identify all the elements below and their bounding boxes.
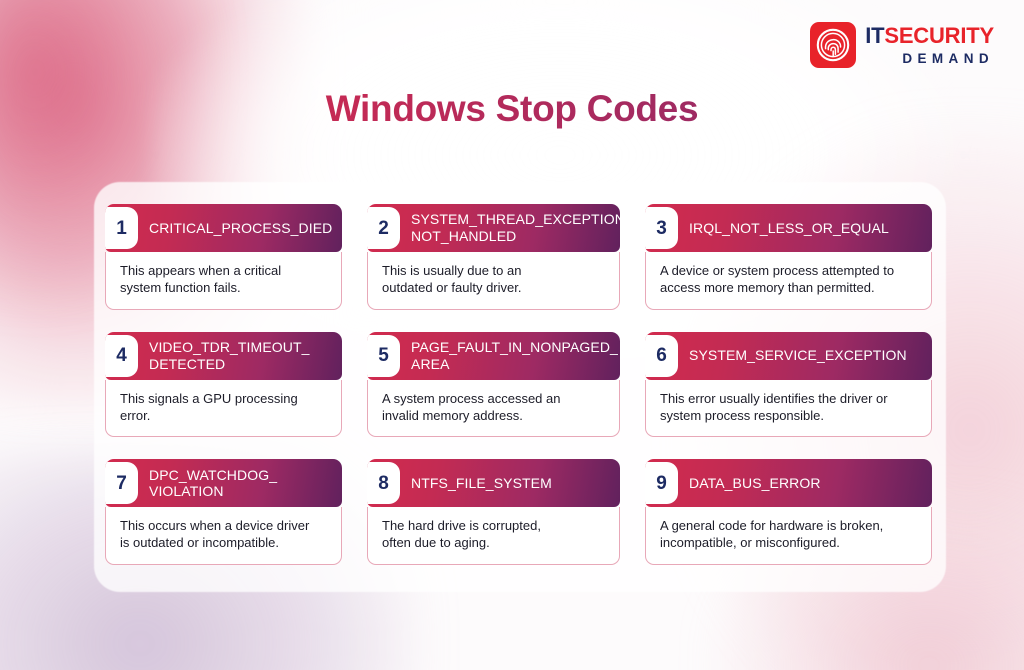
page-title: Windows Stop Codes [0,88,1024,130]
card-code-label: SYSTEM_SERVICE_EXCEPTION [678,332,932,380]
card-number: 3 [656,219,667,238]
card-header: 2 SYSTEM_THREAD_EXCEPTION_ NOT_HANDLED [367,204,620,252]
stop-code-card: 2 SYSTEM_THREAD_EXCEPTION_ NOT_HANDLED T… [367,204,620,310]
brand-logo-security: SECURITY [884,23,994,48]
card-header: 4 VIDEO_TDR_TIMEOUT_ DETECTED [105,332,342,380]
card-description: This occurs when a device driver is outd… [105,507,342,565]
card-number: 1 [116,219,127,238]
brand-logo-primary: ITSECURITY [865,25,994,47]
brand-logo: ITSECURITY DEMAND [810,22,994,68]
card-number: 4 [116,346,127,365]
brand-logo-text: ITSECURITY DEMAND [865,25,994,66]
card-description: This is usually due to an outdated or fa… [367,252,620,310]
card-code-label: DPC_WATCHDOG_ VIOLATION [138,459,342,507]
card-code-label: SYSTEM_THREAD_EXCEPTION_ NOT_HANDLED [400,204,620,252]
card-description: This error usually identifies the driver… [645,380,932,438]
card-number-badge: 9 [645,462,678,504]
card-header: 1 CRITICAL_PROCESS_DIED [105,204,342,252]
card-header: 8 NTFS_FILE_SYSTEM [367,459,620,507]
card-number: 7 [116,474,127,493]
card-code-label: NTFS_FILE_SYSTEM [400,459,620,507]
stop-code-card: 3 IRQL_NOT_LESS_OR_EQUAL A device or sys… [645,204,932,310]
card-number-badge: 8 [367,462,400,504]
card-number-badge: 1 [105,207,138,249]
stop-code-card: 7 DPC_WATCHDOG_ VIOLATION This occurs wh… [105,459,342,565]
card-number-badge: 3 [645,207,678,249]
card-code-label: VIDEO_TDR_TIMEOUT_ DETECTED [138,332,342,380]
card-number: 2 [378,219,389,238]
stop-code-card: 9 DATA_BUS_ERROR A general code for hard… [645,459,932,565]
card-description: A system process accessed an invalid mem… [367,380,620,438]
card-number-badge: 5 [367,335,400,377]
card-description: This appears when a critical system func… [105,252,342,310]
brand-logo-demand: DEMAND [865,52,994,66]
card-number-badge: 4 [105,335,138,377]
card-description: A general code for hardware is broken, i… [645,507,932,565]
card-number-badge: 2 [367,207,400,249]
card-code-label: PAGE_FAULT_IN_NONPAGED_ AREA [400,332,620,380]
card-header: 6 SYSTEM_SERVICE_EXCEPTION [645,332,932,380]
stop-code-card: 6 SYSTEM_SERVICE_EXCEPTION This error us… [645,332,932,438]
card-number-badge: 7 [105,462,138,504]
card-code-label: CRITICAL_PROCESS_DIED [138,204,342,252]
card-description: A device or system process attempted to … [645,252,932,310]
stop-code-card: 1 CRITICAL_PROCESS_DIED This appears whe… [105,204,342,310]
card-description: This signals a GPU processing error. [105,380,342,438]
card-number: 9 [656,474,667,493]
card-header: 5 PAGE_FAULT_IN_NONPAGED_ AREA [367,332,620,380]
stop-code-card: 8 NTFS_FILE_SYSTEM The hard drive is cor… [367,459,620,565]
card-code-label: IRQL_NOT_LESS_OR_EQUAL [678,204,932,252]
brand-logo-it: IT [865,23,884,48]
card-code-label: DATA_BUS_ERROR [678,459,932,507]
stop-code-card: 4 VIDEO_TDR_TIMEOUT_ DETECTED This signa… [105,332,342,438]
card-header: 3 IRQL_NOT_LESS_OR_EQUAL [645,204,932,252]
card-number: 8 [378,474,389,493]
card-header: 9 DATA_BUS_ERROR [645,459,932,507]
stop-code-grid: 1 CRITICAL_PROCESS_DIED This appears whe… [105,204,925,565]
card-header: 7 DPC_WATCHDOG_ VIOLATION [105,459,342,507]
card-number: 5 [378,346,389,365]
infographic-canvas: ITSECURITY DEMAND Windows Stop Codes 1 C… [0,0,1024,670]
stop-code-card: 5 PAGE_FAULT_IN_NONPAGED_ AREA A system … [367,332,620,438]
fingerprint-icon [810,22,856,68]
card-description: The hard drive is corrupted, often due t… [367,507,620,565]
card-number: 6 [656,346,667,365]
card-number-badge: 6 [645,335,678,377]
